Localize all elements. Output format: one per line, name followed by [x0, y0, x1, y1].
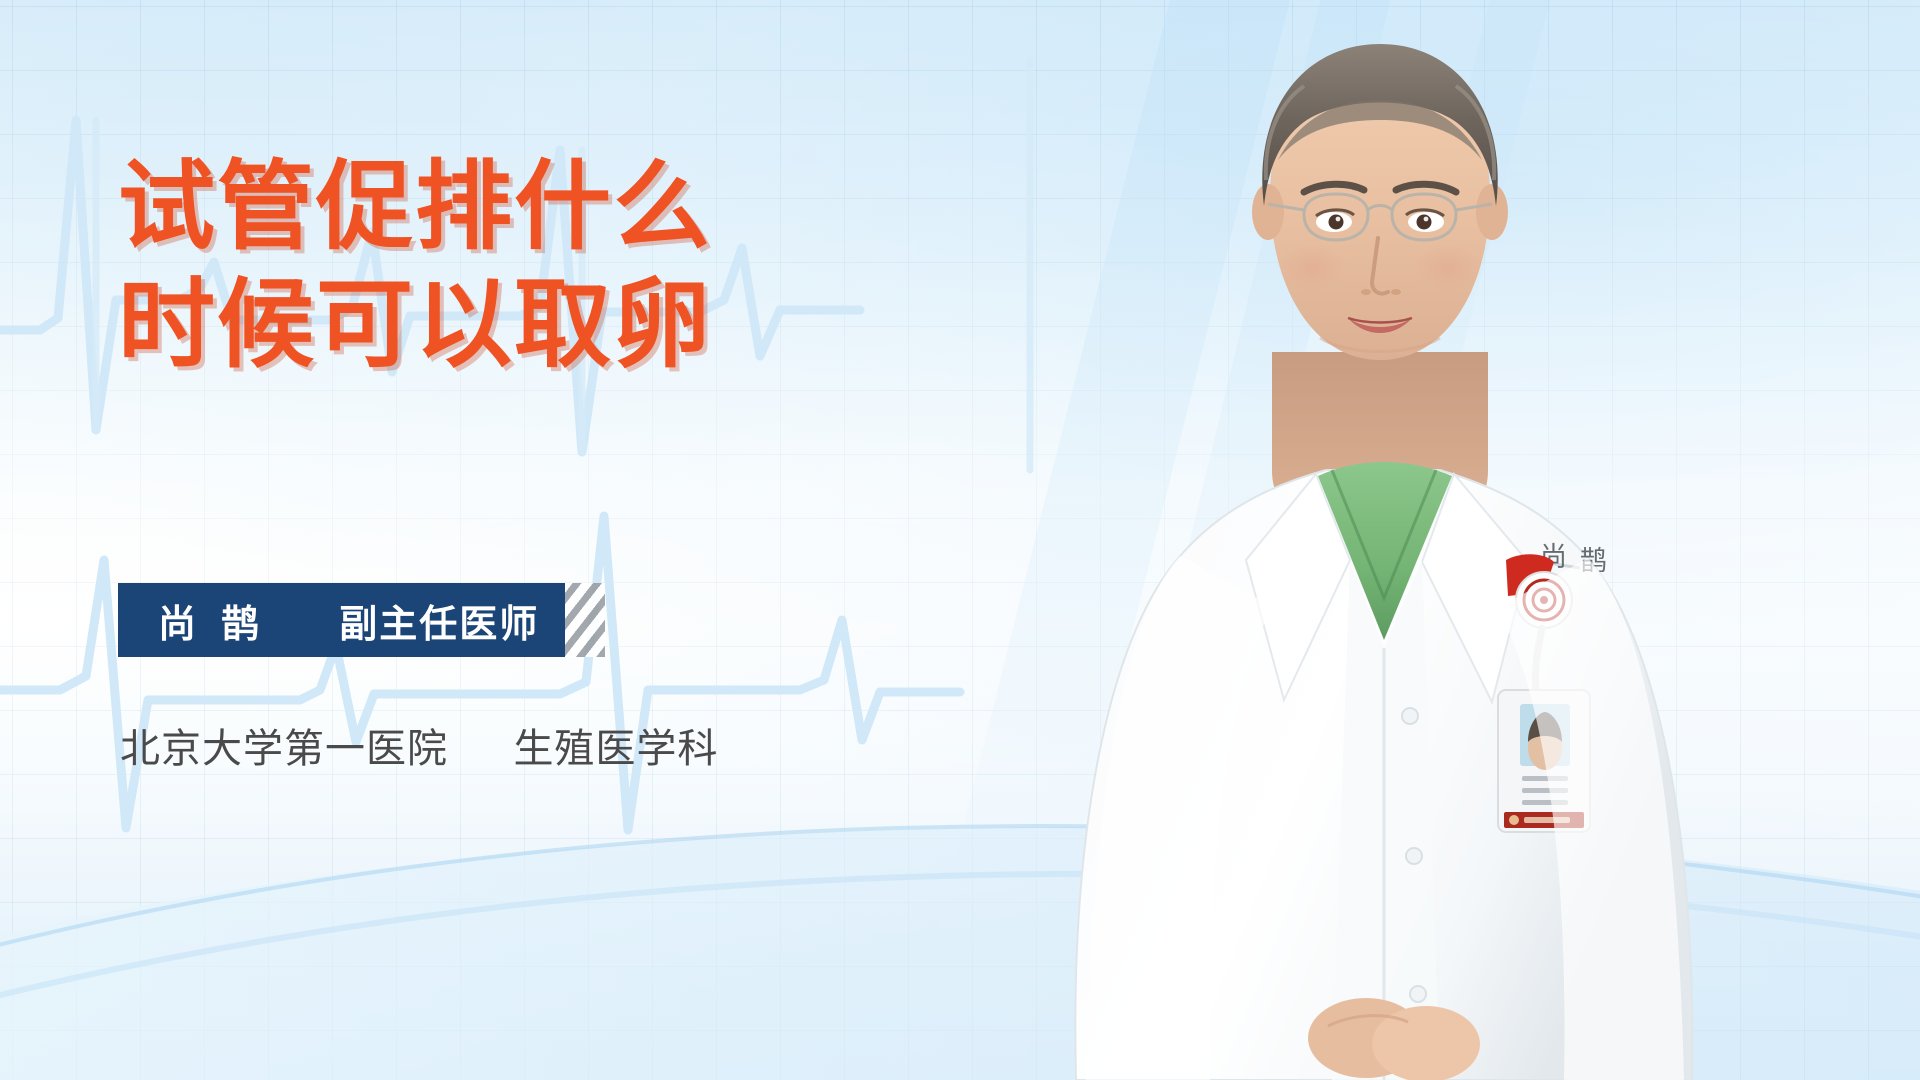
hospital-name: 北京大学第一医院 [120, 726, 448, 772]
title-line-1: 试管促排什么 [118, 148, 878, 266]
title-line-2: 时候可以取卵 [118, 266, 878, 384]
doctor-portrait: 尚 鹊 [880, 0, 1920, 1080]
coat-button [1406, 848, 1422, 864]
badge-main-block: 尚 鹊 副主任医师 [118, 583, 565, 657]
id-card-seal [1509, 815, 1519, 825]
iris-right [1417, 215, 1432, 230]
diagonal-stripes-icon [565, 583, 605, 657]
ear-right [1476, 184, 1508, 240]
ear-left [1252, 184, 1284, 240]
page-title: 试管促排什么 时候可以取卵 [118, 148, 878, 384]
doctor-name-badge: 尚 鹊 副主任医师 [118, 583, 605, 657]
doctor-job-title: 副主任医师 [339, 593, 539, 648]
coat-button [1410, 986, 1426, 1002]
department-name: 生殖医学科 [513, 726, 718, 772]
affiliation-line: 北京大学第一医院 生殖医学科 [120, 716, 718, 774]
iris-left [1329, 215, 1344, 230]
doctor-name: 尚 鹊 [158, 593, 265, 648]
title-card: 尚 鹊 [0, 0, 1920, 1080]
coat-button [1402, 708, 1418, 724]
